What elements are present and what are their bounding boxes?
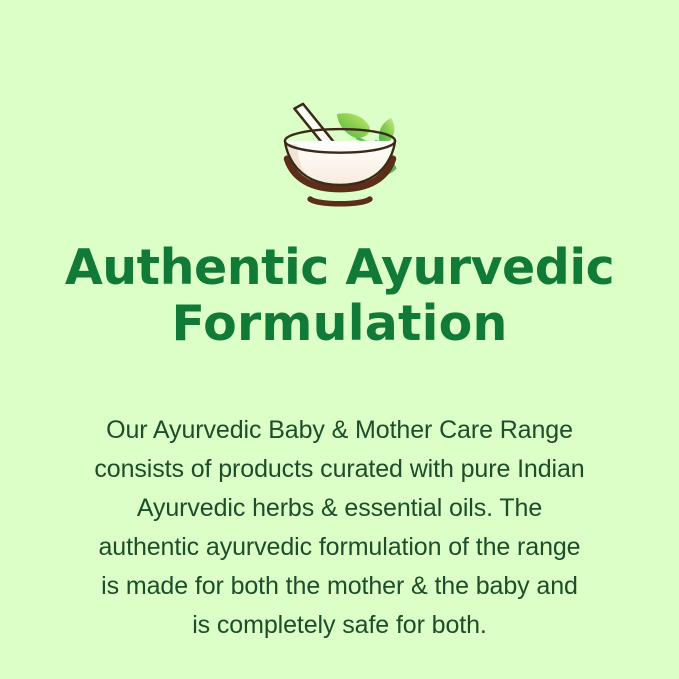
- description-line: consists of products curated with pure I…: [50, 450, 630, 489]
- description-paragraph: Our Ayurvedic Baby & Mother Care Range c…: [50, 411, 630, 645]
- description-line: Ayurvedic herbs & essential oils. The: [50, 489, 630, 528]
- page-title-line-1: Authentic Ayurvedic: [40, 240, 640, 296]
- page-title: Authentic Ayurvedic Formulation: [40, 240, 640, 352]
- description-line: is made for both the mother & the baby a…: [50, 567, 630, 606]
- ayurvedic-formulation-card: Authentic Ayurvedic Formulation Our Ayur…: [0, 0, 679, 679]
- description-line: authentic ayurvedic formulation of the r…: [50, 528, 630, 567]
- mortar-and-pestle-with-herb-leaves-icon: [260, 96, 420, 214]
- description-line: is completely safe for both.: [50, 606, 630, 645]
- page-title-line-2: Formulation: [40, 296, 640, 352]
- description-line: Our Ayurvedic Baby & Mother Care Range: [50, 411, 630, 450]
- mortar-bowl-icon: [284, 129, 394, 204]
